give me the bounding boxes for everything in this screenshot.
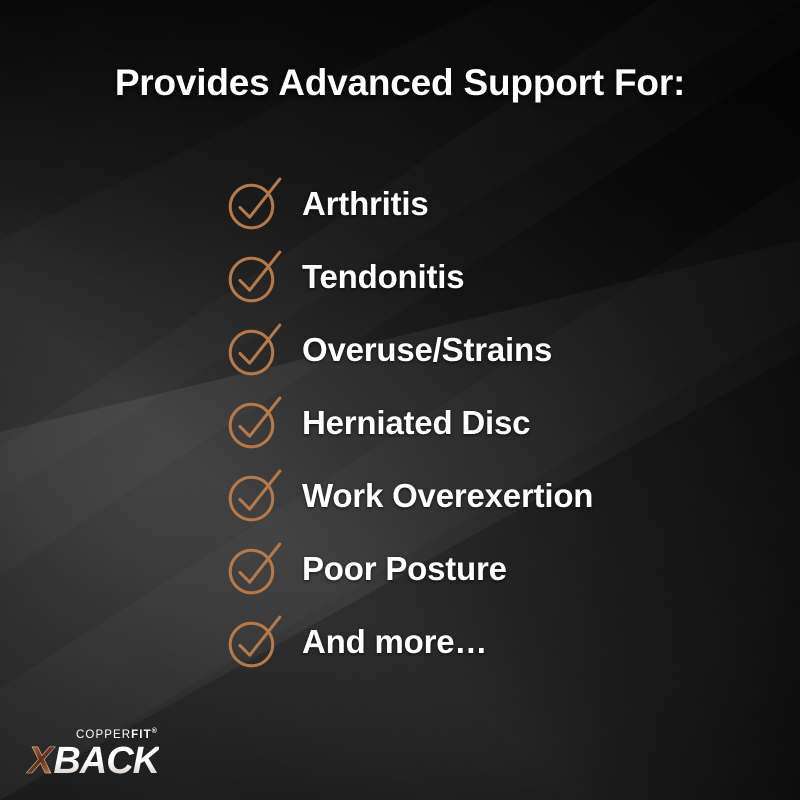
checklist-item-arthritis: Arthritis	[224, 166, 593, 239]
product-x-text: X	[28, 740, 53, 782]
checklist-item-herniated-disc: Herniated Disc	[224, 385, 593, 458]
brand-fit-text: FIT	[131, 729, 152, 741]
check-circle-icon	[224, 464, 286, 526]
checklist-item-label: Work Overexertion	[302, 477, 593, 515]
checklist-item-work-overexertion: Work Overexertion	[224, 458, 593, 531]
checklist-item-label: Arthritis	[302, 185, 429, 223]
product-back-text: BACK	[53, 740, 159, 782]
checklist-item-overuse-strains: Overuse/Strains	[224, 312, 593, 385]
brand-wordmark: COPPERFIT®	[46, 728, 188, 741]
checklist-item-poor-posture: Poor Posture	[224, 531, 593, 604]
copper-fit-x-back-logo: COPPERFIT® XBACK	[28, 728, 188, 780]
check-circle-icon	[224, 318, 286, 380]
checklist-item-label: Herniated Disc	[302, 404, 530, 442]
checklist-item-label: And more…	[302, 623, 487, 661]
check-circle-icon	[224, 172, 286, 234]
check-circle-icon	[224, 610, 286, 672]
page-title: Provides Advanced Support For:	[0, 62, 800, 104]
product-wordmark: XBACK	[28, 742, 188, 780]
checklist-item-label: Poor Posture	[302, 550, 507, 588]
checklist-item-label: Tendonitis	[302, 258, 464, 296]
checklist-item-tendonitis: Tendonitis	[224, 239, 593, 312]
registered-trademark-icon: ®	[152, 728, 158, 735]
checklist-item-label: Overuse/Strains	[302, 331, 552, 369]
support-checklist: Arthritis Tendonitis Overuse/Strains Her…	[224, 166, 593, 677]
check-circle-icon	[224, 391, 286, 453]
checklist-item-and-more: And more…	[224, 604, 593, 677]
check-circle-icon	[224, 537, 286, 599]
check-circle-icon	[224, 245, 286, 307]
promo-graphic: Provides Advanced Support For: Arthritis…	[0, 0, 800, 800]
brand-copper-text: COPPER	[76, 729, 131, 741]
